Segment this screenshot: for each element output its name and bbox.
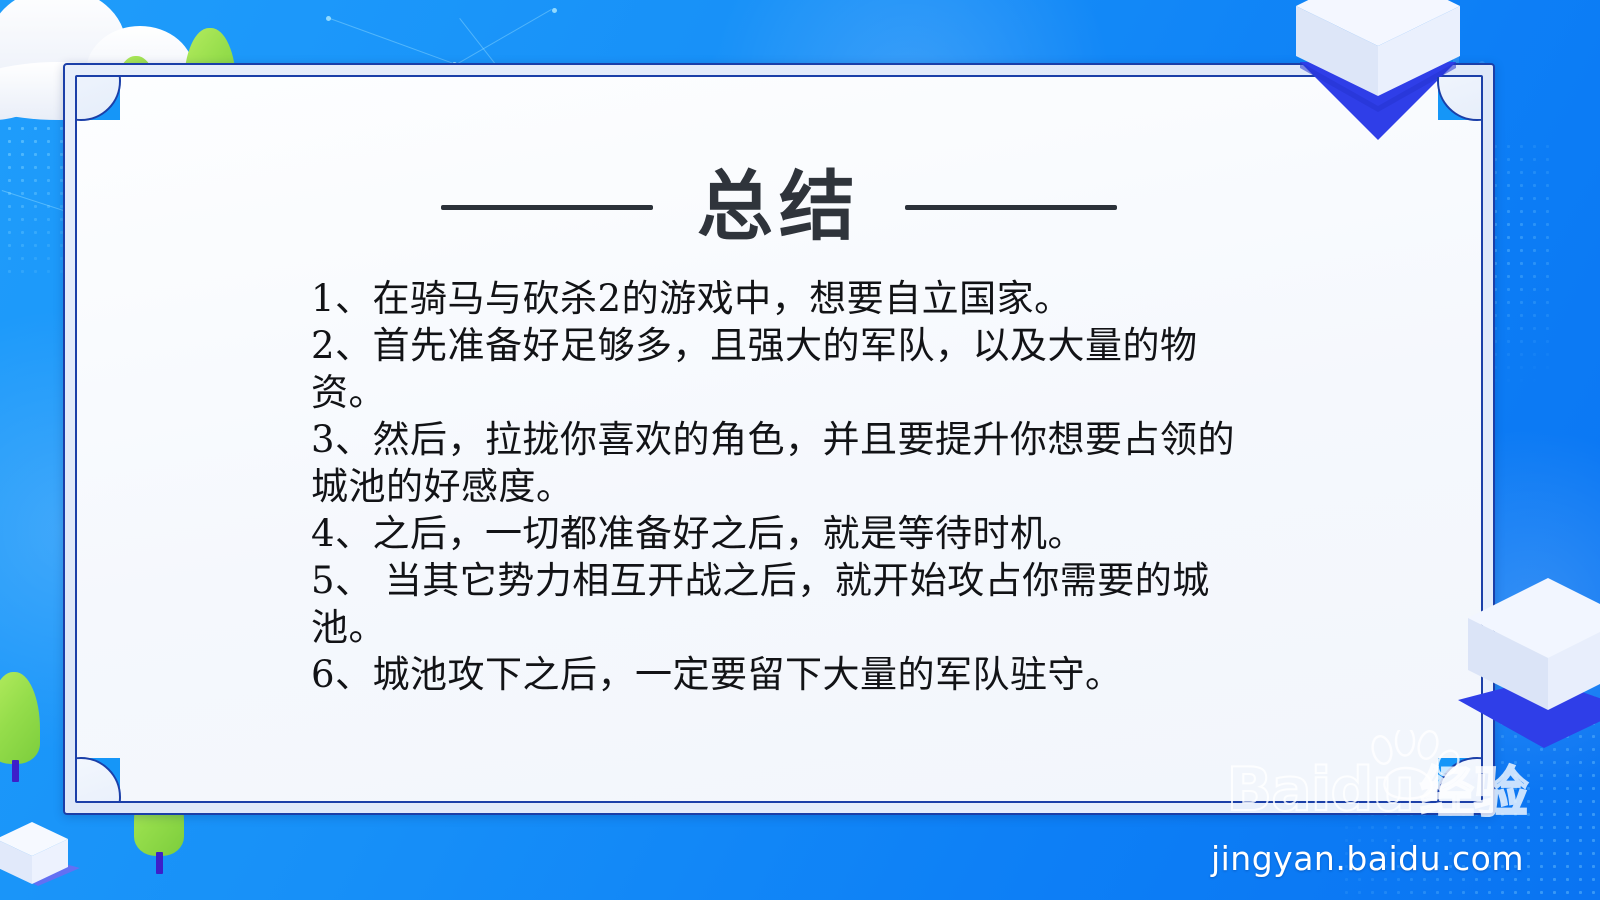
network-node (14, 108, 19, 113)
content-card: 总结 1、在骑马与砍杀2的游戏中，想要自立国家。 2、首先准备好足够多，且强大的… (63, 63, 1495, 815)
slide-canvas: 总结 1、在骑马与砍杀2的游戏中，想要自立国家。 2、首先准备好足够多，且强大的… (0, 0, 1600, 900)
corner-notch-top-left (75, 75, 120, 120)
summary-item-4: 4、之后，一切都准备好之后，就是等待时机。 (311, 510, 1271, 557)
title-row: 总结 (77, 169, 1481, 245)
summary-list: 1、在骑马与砍杀2的游戏中，想要自立国家。 2、首先准备好足够多，且强大的军队，… (311, 275, 1271, 698)
summary-item-1: 1、在骑马与砍杀2的游戏中，想要自立国家。 (311, 275, 1271, 322)
watermark-url: jingyan.baidu.com (1211, 839, 1524, 878)
tree-decoration (0, 672, 40, 772)
summary-item-5: 5、 当其它势力相互开战之后，就开始攻占你需要的城池。 (311, 557, 1271, 651)
network-line (456, 9, 552, 65)
title-rule-left (441, 205, 653, 210)
network-node (326, 16, 331, 21)
corner-notch-bottom-right (1438, 758, 1483, 803)
network-line (330, 18, 453, 63)
card-inner-page: 总结 1、在骑马与砍杀2的游戏中，想要自立国家。 2、首先准备好足够多，且强大的… (75, 75, 1483, 803)
title-rule-right (905, 205, 1117, 210)
isometric-cube-icon (0, 822, 68, 884)
page-title: 总结 (697, 169, 861, 245)
summary-item-2: 2、首先准备好足够多，且强大的军队，以及大量的物资。 (311, 322, 1271, 416)
chevron-accent-icon (0, 856, 80, 886)
chevron-accent-bottom-left (0, 856, 80, 886)
corner-notch-bottom-left (75, 758, 120, 803)
corner-notch-top-right (1438, 75, 1483, 120)
isometric-cube-bottom-left (0, 822, 68, 884)
summary-item-3: 3、然后，拉拢你喜欢的角色，并且要提升你想要占领的城池的好感度。 (311, 416, 1271, 510)
card-content: 总结 1、在骑马与砍杀2的游戏中，想要自立国家。 2、首先准备好足够多，且强大的… (77, 77, 1481, 801)
network-node (552, 8, 557, 13)
summary-item-6: 6、城池攻下之后，一定要留下大量的军队驻守。 (311, 651, 1271, 698)
